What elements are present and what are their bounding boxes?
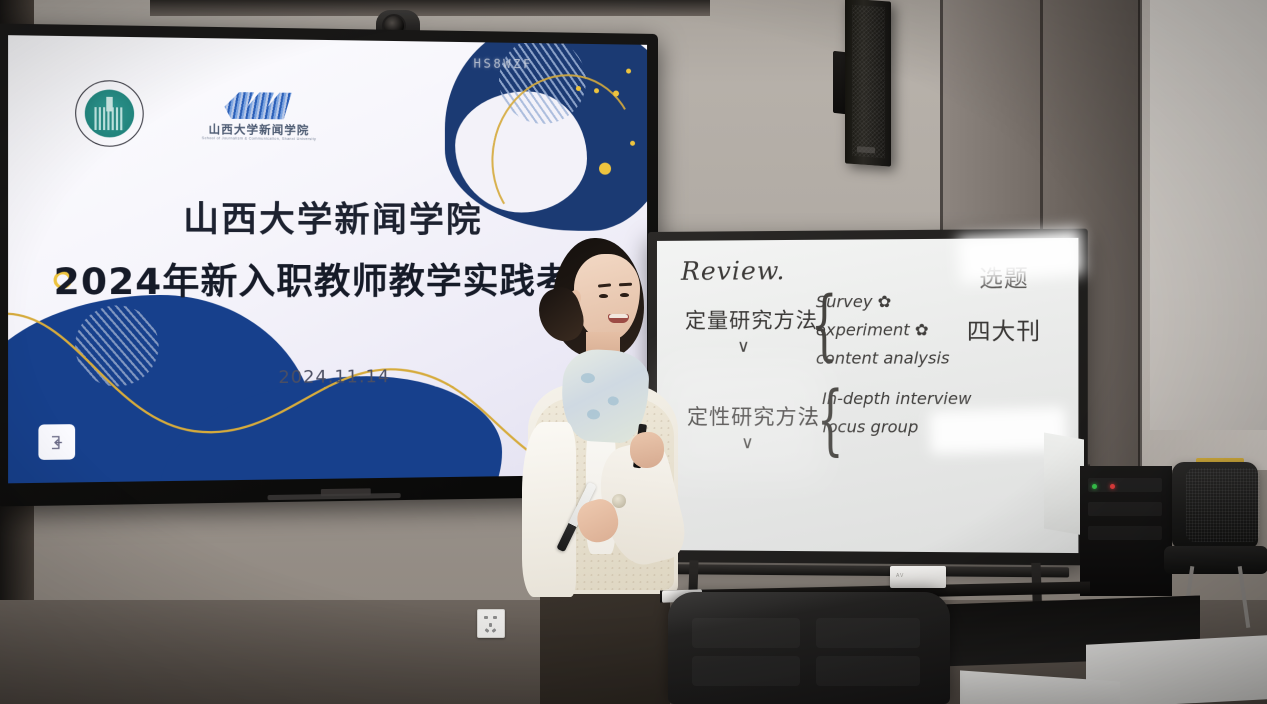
white-wall-right [1150, 0, 1267, 430]
whiteboard-glare [957, 228, 1084, 284]
whiteboard-item: experiment ✿ [816, 320, 929, 340]
decor-dot [630, 141, 635, 146]
presenter-left-sleeve [522, 422, 576, 597]
chair-mesh [1186, 468, 1260, 542]
presenter-hand-upper [630, 432, 664, 468]
mobile-whiteboard[interactable]: Review. 定量研究方法 ∨ { Survey ✿ experiment ✿… [648, 229, 1088, 566]
av-box-label: AV [896, 573, 904, 579]
presenter-teeth [609, 314, 628, 318]
presenter [500, 232, 690, 704]
presenter-face [574, 254, 640, 340]
classroom-scene: 山西大学新闻学院 School of Journalism & Communic… [0, 0, 1267, 704]
university-seal-icon [75, 80, 144, 147]
office-chair-right[interactable] [1164, 462, 1267, 612]
whiteboard-group-label: 定量研究方法 [685, 304, 818, 335]
exit-icon[interactable] [38, 424, 75, 460]
whiteboard-heading: Review. [681, 256, 785, 286]
whiteboard-item: Survey ✿ [816, 292, 891, 312]
whiteboard-edge-reflection [1044, 432, 1084, 535]
whiteboard-item: focus group [822, 417, 918, 436]
journalism-logo-mark-icon [224, 92, 291, 119]
presenter-scarf [560, 348, 651, 444]
chair-backrest [1172, 462, 1258, 548]
decor-dot-large [599, 163, 611, 175]
decor-dot [576, 86, 581, 91]
decor-dot [626, 69, 631, 74]
chair-seat [1164, 546, 1267, 574]
chair-foreground[interactable] [668, 592, 950, 704]
panel-seam [1138, 0, 1142, 470]
whiteboard-group-arrow: ∨ [737, 337, 750, 357]
av-control-box[interactable]: AV [890, 566, 946, 588]
whiteboard-surface[interactable]: Review. 定量研究方法 ∨ { Survey ✿ experiment ✿… [657, 238, 1078, 553]
decor-dot [594, 88, 599, 93]
journalism-logo-subtext: School of Journalism & Communication, Sh… [201, 136, 317, 141]
journalism-school-logo: 山西大学新闻学院 School of Journalism & Communic… [201, 92, 317, 155]
av-equipment-rack [1080, 466, 1172, 596]
decor-dot [613, 90, 619, 96]
presenter-skirt [540, 584, 670, 704]
rack-led-green [1092, 484, 1097, 489]
wall-speaker-icon [845, 0, 891, 167]
whiteboard-item: content analysis [816, 348, 950, 367]
whiteboard-right-note: 四大刊 [967, 311, 1041, 346]
whiteboard-item: In-depth interview [822, 389, 971, 408]
slide-watermark: HS8WZF [474, 56, 533, 71]
rack-led-red [1110, 484, 1115, 489]
